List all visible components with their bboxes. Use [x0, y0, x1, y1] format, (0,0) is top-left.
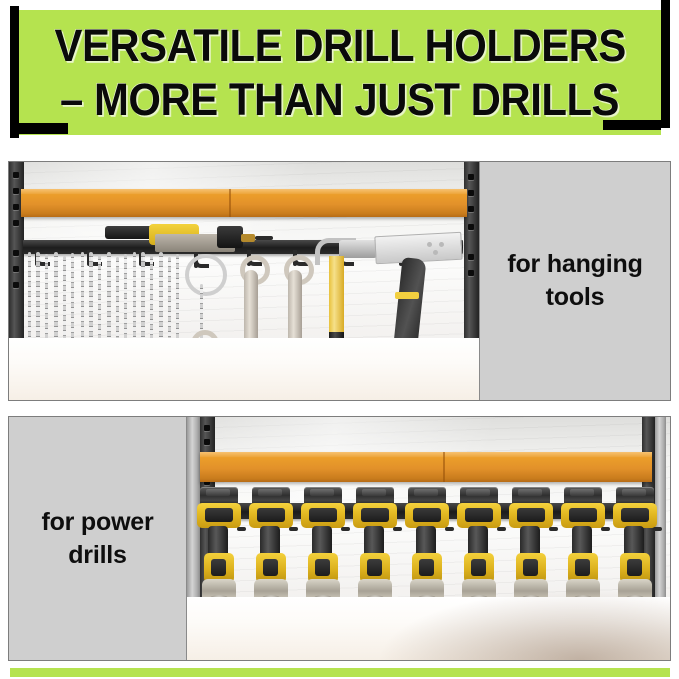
banner-background [19, 10, 661, 135]
header-banner: VERSATILE DRILL HOLDERS – MORE THAN JUST… [0, 0, 679, 148]
photo-hanging-tools [9, 162, 479, 400]
caption-power-drills-text: for power drills [9, 506, 186, 572]
photo-power-drills [187, 417, 670, 660]
caption-hanging-tools-text: for hanging tools [480, 248, 670, 314]
caption-power-drills: for power drills [9, 417, 187, 660]
orange-shelf-beam [200, 452, 652, 482]
banner-right-rule [661, 0, 670, 128]
banner-left-rule [10, 6, 19, 138]
floor-shadow [371, 587, 670, 660]
footer-accent-bar [10, 668, 670, 677]
product-infographic: VERSATILE DRILL HOLDERS – MORE THAN JUST… [0, 0, 679, 679]
banner-tick-right [603, 120, 661, 130]
banner-tick-left [18, 123, 68, 134]
photo-floor [9, 338, 479, 400]
orange-shelf-beam [21, 189, 467, 217]
panel-hanging-tools: for hanging tools [8, 161, 671, 401]
caption-hanging-tools: for hanging tools [479, 162, 670, 400]
panel-power-drills: for power drills [8, 416, 671, 661]
